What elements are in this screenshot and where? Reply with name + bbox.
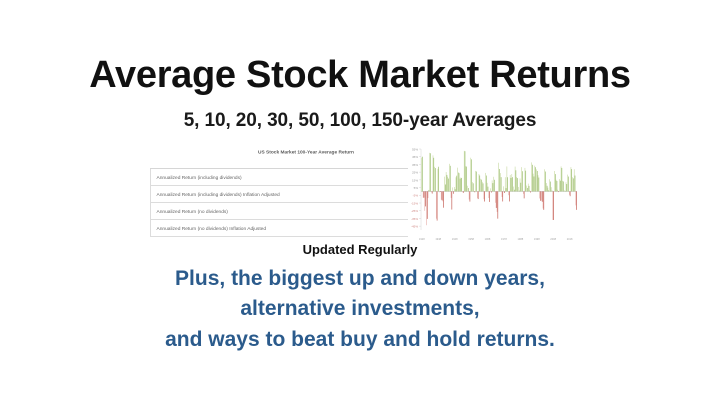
report-table-panel: US Stock Market 100-Year Average Return …	[148, 146, 408, 244]
svg-text:-15%: -15%	[411, 201, 418, 205]
svg-text:1998: 1998	[534, 237, 540, 241]
embedded-report-graphic: US Stock Market 100-Year Average Return …	[148, 146, 580, 244]
svg-text:35%: 35%	[412, 163, 418, 167]
svg-text:1958: 1958	[468, 237, 474, 241]
slide-canvas: Average Stock Market Returns 5, 10, 20, …	[0, 0, 720, 419]
svg-text:-45%: -45%	[411, 225, 418, 229]
tagline-line-3: and ways to beat buy and hold returns.	[0, 325, 720, 355]
svg-text:-5%: -5%	[413, 194, 419, 198]
tagline-line-1: Plus, the biggest up and down years,	[0, 264, 720, 294]
svg-text:2008: 2008	[550, 237, 556, 241]
table-row: Annualized Return (including dividends)	[150, 169, 408, 186]
svg-text:1928: 1928	[419, 237, 425, 241]
table-row: Annualized Return (no dividends)	[150, 203, 408, 220]
svg-text:1988: 1988	[517, 237, 523, 241]
table-row-label: Annualized Return (no dividends) Inflati…	[151, 225, 266, 231]
annual-returns-bar-chart: 55%45%35%25%15%5%-5%-15%-25%-35%-45%1928…	[406, 146, 580, 244]
svg-text:25%: 25%	[412, 171, 418, 175]
svg-text:1948: 1948	[452, 237, 458, 241]
table-row-label: Annualized Return (including dividends) …	[151, 191, 280, 197]
tagline-line-2: alternative investments,	[0, 294, 720, 324]
bar-chart-svg: 55%45%35%25%15%5%-5%-15%-25%-35%-45%1928…	[406, 146, 580, 244]
table-row-label: Annualized Return (no dividends)	[151, 208, 228, 214]
table-row-label: Annualized Return (including dividends)	[151, 174, 242, 180]
page-subtitle: 5, 10, 20, 30, 50, 100, 150-year Average…	[0, 110, 720, 132]
svg-text:2018: 2018	[567, 237, 573, 241]
svg-text:1938: 1938	[435, 237, 441, 241]
updated-note: Updated Regularly	[0, 242, 720, 257]
svg-text:-35%: -35%	[411, 217, 418, 221]
returns-table: Annualized Return (including dividends) …	[150, 168, 408, 237]
svg-text:55%: 55%	[412, 147, 418, 151]
svg-text:1978: 1978	[501, 237, 507, 241]
table-row: Annualized Return (including dividends) …	[150, 186, 408, 203]
svg-text:5%: 5%	[414, 186, 419, 190]
report-heading: US Stock Market 100-Year Average Return	[191, 149, 421, 155]
svg-text:1968: 1968	[485, 237, 491, 241]
svg-text:15%: 15%	[412, 178, 418, 182]
svg-text:45%: 45%	[412, 155, 418, 159]
svg-text:-25%: -25%	[411, 209, 418, 213]
tagline-block: Plus, the biggest up and down years, alt…	[0, 264, 720, 355]
table-row: Annualized Return (no dividends) Inflati…	[150, 220, 408, 237]
page-title: Average Stock Market Returns	[0, 56, 720, 96]
